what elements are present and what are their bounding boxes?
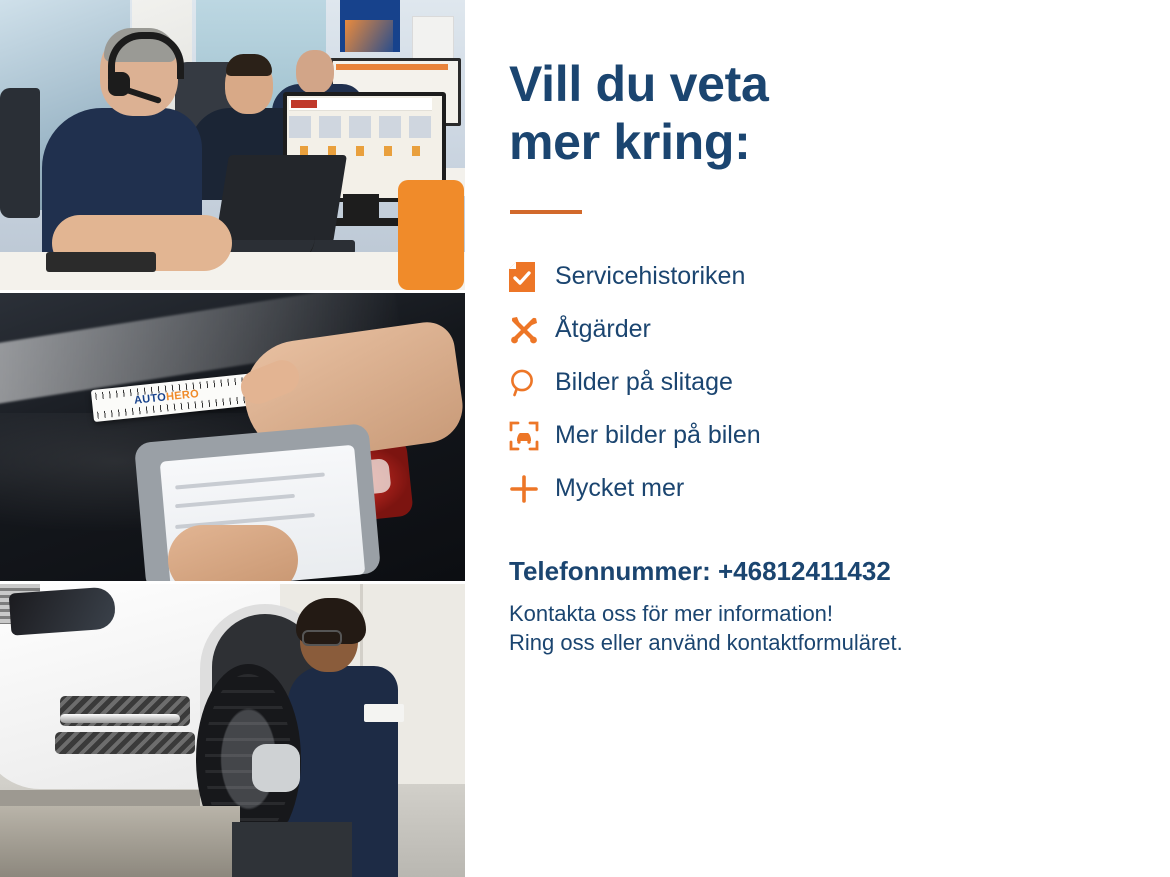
list-item: Mycket mer <box>509 462 969 515</box>
car-scan-frame-icon <box>509 421 555 451</box>
list-item-label: Servicehistoriken <box>555 262 745 291</box>
photo-technician-glove <box>252 744 300 792</box>
photo-monitor-stand <box>343 194 379 220</box>
page-title-line-1: Vill du veta <box>509 56 889 114</box>
list-item: Åtgärder <box>509 303 969 356</box>
list-item-label: Mer bilder på bilen <box>555 421 761 450</box>
photo-chair <box>0 88 40 218</box>
photo-agent-3-head <box>296 50 334 94</box>
photo-bumper-chrome <box>60 714 180 723</box>
contact-line-2: Ring oss eller använd kontaktformuläret. <box>509 628 1069 657</box>
photo-monitor-thumbnails <box>289 116 432 138</box>
photo-monitor-accent <box>291 100 317 108</box>
list-item-label: Mycket mer <box>555 474 684 503</box>
promo-banner: AUTOHERO <box>0 0 1170 877</box>
contact-block: Telefonnummer: +46812411432 Kontakta oss… <box>509 556 1069 658</box>
call-center-agents-photo <box>0 0 465 290</box>
phone-number: Telefonnummer: +46812411432 <box>509 556 1069 587</box>
plus-icon <box>509 474 555 504</box>
photo-agent-2-hair <box>226 54 272 76</box>
list-item-label: Bilder på slitage <box>555 368 733 397</box>
photo-tool-cabinet <box>232 822 352 877</box>
magnifier-icon <box>509 368 555 398</box>
list-item-label: Åtgärder <box>555 315 651 344</box>
content-panel: Vill du veta mer kring: Servicehistorike… <box>465 0 1170 877</box>
page-title: Vill du veta mer kring: <box>509 56 889 171</box>
feature-list: Servicehistoriken Åtgärder <box>509 250 969 515</box>
title-divider <box>510 210 582 214</box>
page-title-line-2: mer kring: <box>509 114 889 172</box>
photo-strip: AUTOHERO <box>0 0 465 877</box>
photo-desk-tablet <box>46 252 156 272</box>
photo-back-monitor-bar <box>336 64 448 70</box>
wrench-screwdriver-icon <box>509 315 555 345</box>
tyre-service-photo <box>0 584 465 877</box>
checklist-document-icon <box>509 262 555 292</box>
photo-technician-logo-patch <box>364 704 404 722</box>
photo-inspector-hand-2 <box>168 525 298 581</box>
photo-car-headlight <box>9 586 117 635</box>
photo-orange-chair <box>398 180 464 290</box>
photo-car-lift <box>0 790 200 806</box>
photo-technician-glasses <box>302 630 342 646</box>
list-item: Bilder på slitage <box>509 356 969 409</box>
photo-bench <box>0 806 240 877</box>
contact-line-1: Kontakta oss för mer information! <box>509 599 1069 628</box>
photo-banner-image <box>345 20 393 52</box>
photo-bumper-vent-2 <box>55 732 195 754</box>
list-item: Mer bilder på bilen <box>509 409 969 462</box>
car-inspection-photo: AUTOHERO <box>0 293 465 581</box>
list-item: Servicehistoriken <box>509 250 969 303</box>
photo-laptop-screen <box>215 155 347 243</box>
